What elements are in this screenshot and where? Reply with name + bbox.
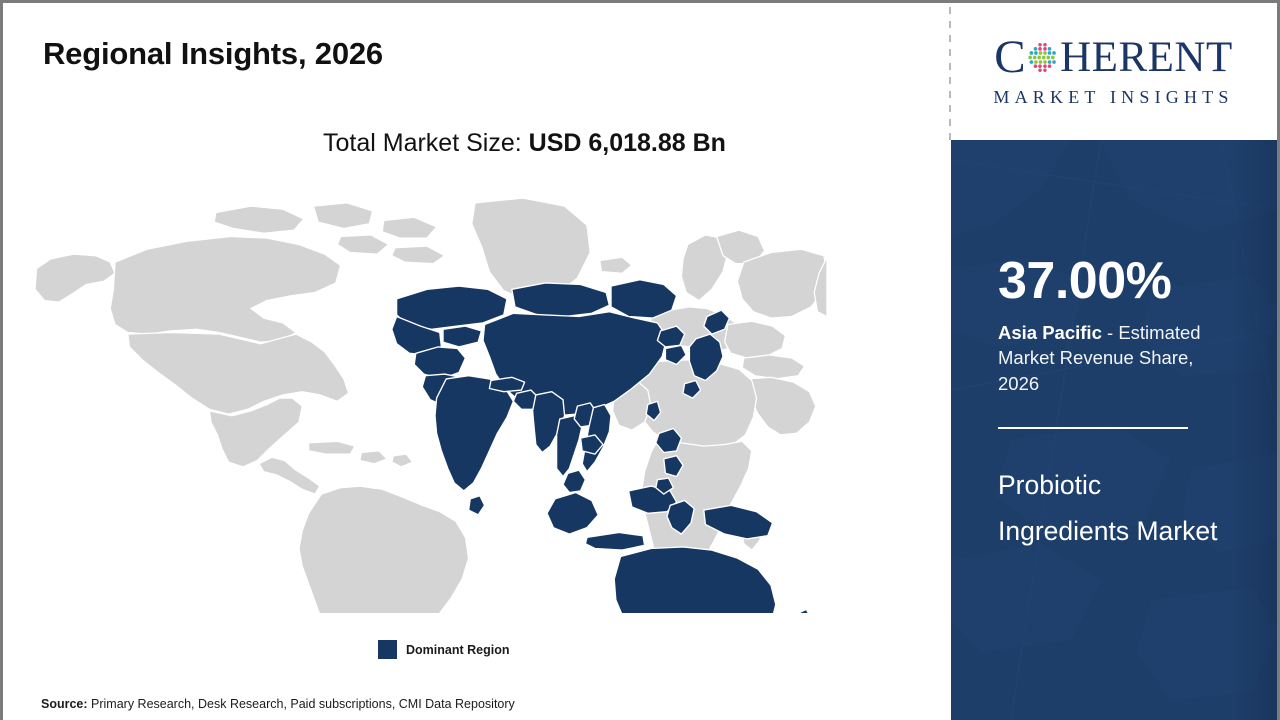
world-map (27, 188, 827, 613)
world-map-svg (27, 188, 827, 613)
stat-description: Asia Pacific - Estimated Market Revenue … (998, 320, 1233, 396)
total-market-size-label: Total Market Size: (323, 129, 522, 157)
vertical-dashed-divider (949, 7, 951, 140)
dotted-globe-icon (1026, 41, 1059, 74)
source-label: Source: (41, 697, 88, 711)
company-logo: C (961, 25, 1266, 117)
map-legend: Dominant Region (378, 640, 509, 659)
market-name: Probiotic Ingredients Market (998, 463, 1228, 554)
legend-label-dominant-region: Dominant Region (406, 643, 509, 657)
logo-letters-herent: HERENT (1060, 36, 1233, 79)
stat-region-name: Asia Pacific (998, 322, 1102, 343)
source-text: Primary Research, Desk Research, Paid su… (88, 697, 515, 711)
infographic-slide: Regional Insights, 2026 Total Market Siz… (0, 0, 1280, 720)
stat-value: 37.00% (998, 255, 1171, 307)
stat-panel: 37.00% Asia Pacific - Estimated Market R… (951, 140, 1280, 720)
page-title: Regional Insights, 2026 (43, 36, 383, 72)
logo-tagline: MARKET INSIGHTS (993, 87, 1233, 108)
logo-wordmark: C (994, 34, 1232, 81)
total-market-size: Total Market Size: USD 6,018.88 Bn (323, 129, 726, 158)
logo-letter-c: C (994, 34, 1026, 81)
left-content-pane: Regional Insights, 2026 Total Market Siz… (3, 3, 949, 720)
panel-divider (998, 427, 1188, 429)
legend-swatch-dominant-region (378, 640, 397, 659)
panel-content: 37.00% Asia Pacific - Estimated Market R… (998, 140, 1258, 720)
total-market-size-value: USD 6,018.88 Bn (529, 129, 726, 157)
source-note: Source: Primary Research, Desk Research,… (41, 697, 515, 711)
